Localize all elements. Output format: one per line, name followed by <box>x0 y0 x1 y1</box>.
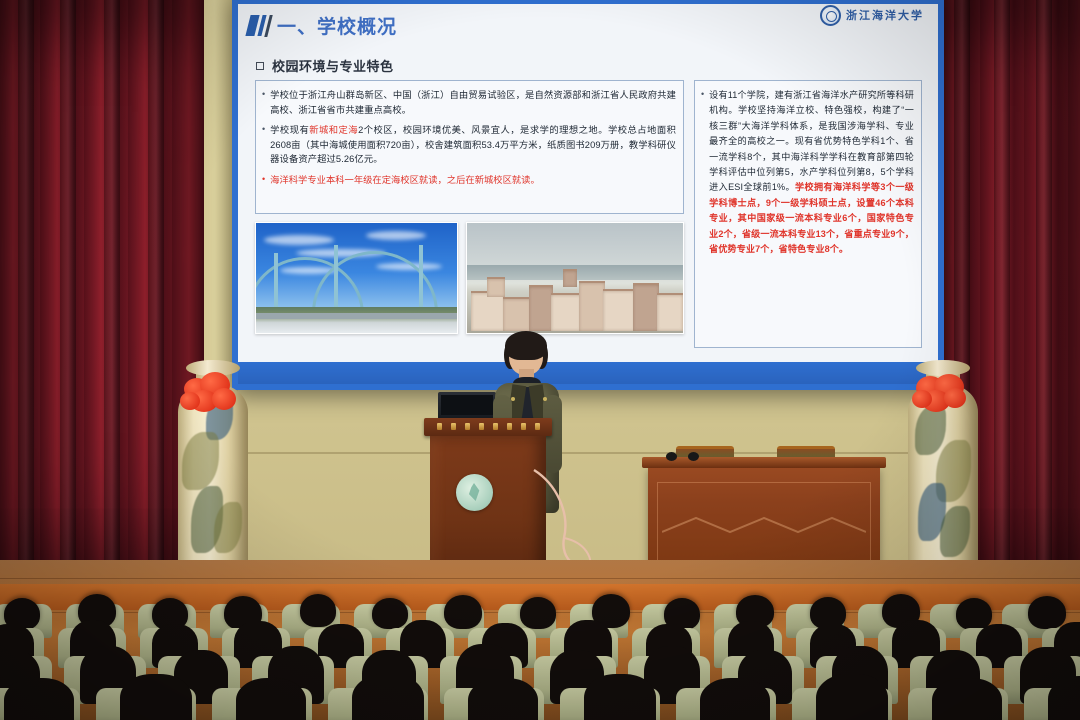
stage-curtain-left <box>0 0 204 600</box>
bullet-text-part: 设有11个学院，建有浙江省海洋水产研究所等科研机构。学校坚持海洋立校、特色强校，… <box>709 90 914 192</box>
bridge-gateway-photo <box>255 222 458 334</box>
highlight-text: 新城和定海 <box>309 125 358 135</box>
slide-footer-bar <box>238 362 938 384</box>
school-logo-text: 浙江海洋大学 <box>846 7 924 23</box>
slide-title: 一、学校概况 <box>277 12 397 39</box>
bullet-item: • 学校现有新城和定海2个校区，校园环境优美、风景宜人，是求学的理想之地。学校总… <box>262 123 676 167</box>
bullet-dot-icon: • <box>262 173 265 188</box>
presenter-hair <box>505 331 547 360</box>
lectern-gold-lettering <box>432 421 544 431</box>
bridge-ground <box>256 307 457 333</box>
floor-vase-right <box>908 330 978 580</box>
slide-subheading: 校园环境与专业特色 <box>272 56 394 75</box>
left-text-box: • 学校位于浙江舟山群岛新区、中国（浙江）自由贸易试验区，是自然资源部和浙江省人… <box>255 80 684 214</box>
bullet-text: 设有11个学院，建有浙江省海洋水产研究所等科研机构。学校坚持海洋立校、特色强校，… <box>709 88 914 257</box>
table-top <box>642 457 886 468</box>
floor-vase-left <box>178 330 248 580</box>
auditorium-scene: 浙江海洋大学 一、学校概况 校园环境与专业特色 • 学校位于浙江舟山群岛新区、中… <box>0 0 1080 720</box>
school-logo: 浙江海洋大学 <box>820 4 924 28</box>
right-text-box: • 设有11个学院，建有浙江省海洋水产研究所等科研机构。学校坚持海洋立校、特色强… <box>694 80 922 348</box>
projection-screen: 浙江海洋大学 一、学校概况 校园环境与专业特色 • 学校位于浙江舟山群岛新区、中… <box>232 0 944 390</box>
audience-seating <box>0 584 1080 720</box>
lectern-top <box>424 418 552 436</box>
bullet-item: • 设有11个学院，建有浙江省海洋水产研究所等科研机构。学校坚持海洋立校、特色强… <box>701 88 914 257</box>
bullet-dot-icon: • <box>701 88 704 257</box>
bullet-dot-icon: • <box>262 88 265 117</box>
vase-body-left <box>178 385 248 580</box>
campus-aerial-photo <box>466 222 684 334</box>
bullet-dot-icon: • <box>262 123 265 167</box>
bridge-roadway <box>256 313 457 319</box>
title-accent-icon <box>248 15 270 37</box>
slide-title-row: 一、学校概况 <box>248 12 397 39</box>
square-bullet-icon <box>256 62 264 70</box>
school-seal-emblem-icon <box>456 474 493 511</box>
vase-body-right <box>908 385 978 580</box>
bullet-item: • 学校位于浙江舟山群岛新区、中国（浙江）自由贸易试验区，是自然资源部和浙江省人… <box>262 88 676 117</box>
presentation-slide: 浙江海洋大学 一、学校概况 校园环境与专业特色 • 学校位于浙江舟山群岛新区、中… <box>238 4 938 384</box>
bullet-text: 学校位于浙江舟山群岛新区、中国（浙江）自由贸易试验区，是自然资源部和浙江省人民政… <box>270 88 676 117</box>
slide-subheading-row: 校园环境与专业特色 <box>256 56 394 75</box>
bullet-text: 学校现有新城和定海2个校区，校园环境优美、风景宜人，是求学的理想之地。学校总占地… <box>270 123 676 167</box>
bullet-text-part: 学校现有 <box>270 125 309 135</box>
highlight-text: 学校拥有海洋科学等3个一级学科博士点，9个一级学科硕士点，设置46个本科专业，其… <box>709 182 914 254</box>
table-zigzag-molding <box>662 514 866 536</box>
bullet-item: • 海洋科学专业本科一年级在定海校区就读，之后在新城校区就读。 <box>262 173 676 188</box>
school-seal-icon <box>820 5 841 26</box>
highlight-bullet-text: 海洋科学专业本科一年级在定海校区就读，之后在新城校区就读。 <box>270 173 540 188</box>
